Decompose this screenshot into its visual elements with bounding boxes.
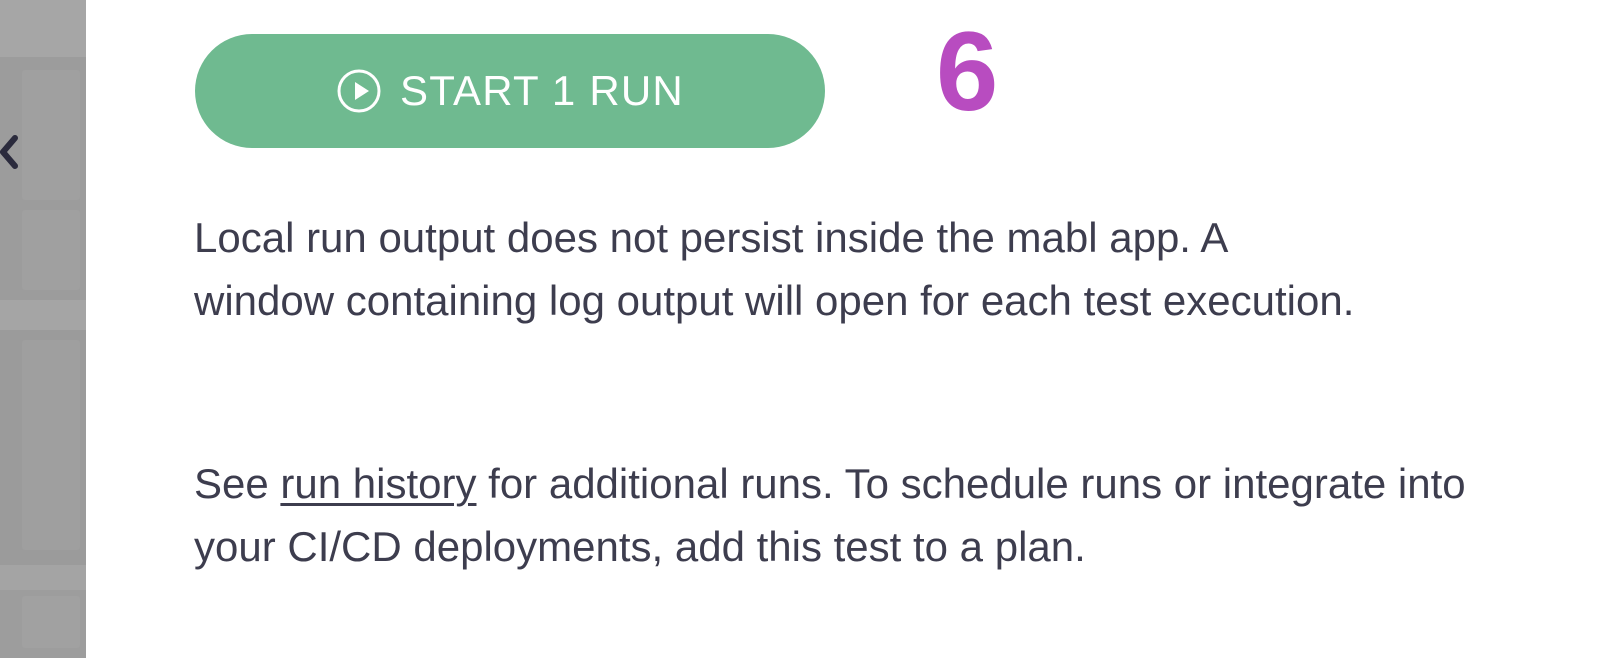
step-number-badge: 6 xyxy=(936,16,998,128)
sidebar-blurred-label xyxy=(22,70,80,200)
sidebar-blurred-label xyxy=(22,596,80,648)
local-run-panel: START 1 RUN 6 Local run output does not … xyxy=(86,0,1600,658)
run-history-link[interactable]: run history xyxy=(280,460,476,507)
sidebar-band xyxy=(0,565,86,590)
sidebar-blurred-label xyxy=(22,340,80,550)
start-run-label: START 1 RUN xyxy=(400,67,684,115)
sidebar-blurred-label xyxy=(22,210,80,290)
local-run-description: Local run output does not persist inside… xyxy=(194,206,1374,332)
sidebar-band xyxy=(0,300,86,330)
start-run-button[interactable]: START 1 RUN xyxy=(195,34,825,148)
chevron-left-icon[interactable] xyxy=(0,130,23,174)
sidebar-band xyxy=(0,0,86,57)
run-history-description: See run history for additional runs. To … xyxy=(194,452,1514,578)
play-circle-icon xyxy=(336,68,382,114)
paragraph-two-prefix: See xyxy=(194,460,280,507)
left-sidebar[interactable] xyxy=(0,0,86,658)
